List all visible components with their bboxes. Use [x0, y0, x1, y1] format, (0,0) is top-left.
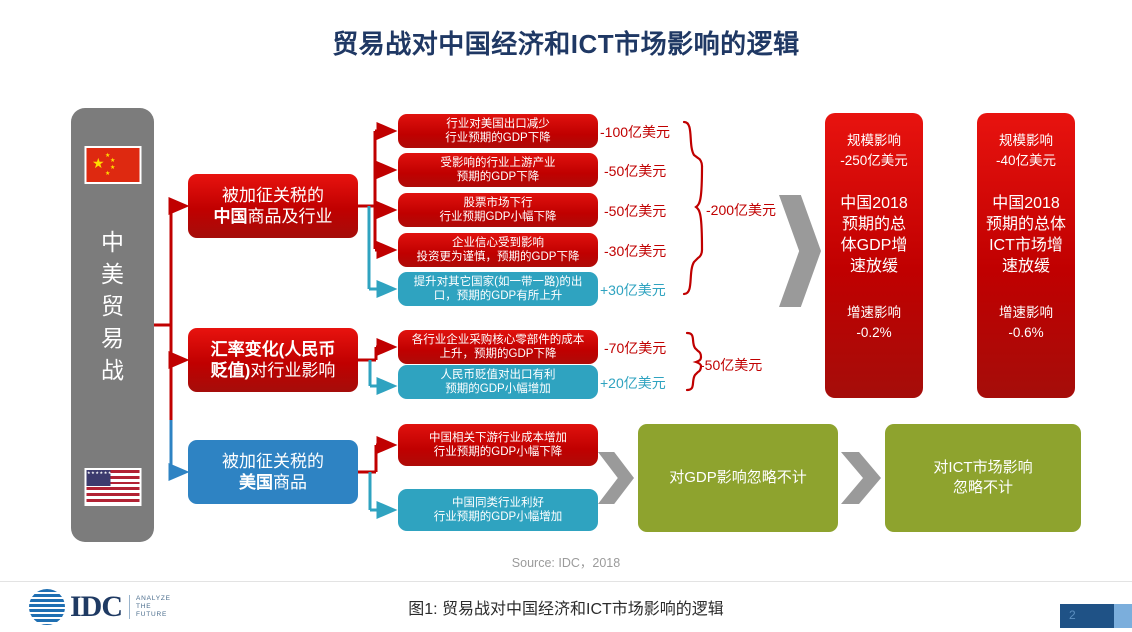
d1-line2: 行业预期的GDP下降 [445, 132, 550, 144]
china-flag-big-star: ★ [92, 156, 105, 170]
o1-body: 中国2018 预期的总 体GDP增 速放缓 [825, 171, 923, 277]
pillar-char-4: 易 [71, 322, 154, 354]
value-label-5: +30亿美元 [600, 280, 666, 300]
idc-tagline: ANALYZE THE FUTURE [129, 595, 171, 619]
green-box-ict-negligible[interactable]: 对ICT市场影响 忽略不计 [885, 424, 1081, 532]
detail-box-confidence[interactable]: 企业信心受到影响投资更为谨慎，预期的GDP下降 [398, 233, 598, 267]
d1-line1: 行业对美国出口减少 [446, 118, 550, 130]
o2-growth-value: -0.6% [977, 323, 1075, 343]
usa-flag-canton: ★★★★★★★★★★★★★★★★★★ [86, 470, 110, 486]
d5-line2: 口，预期的GDP有所上升 [434, 290, 562, 302]
d8-line1: 中国相关下游行业成本增加 [429, 432, 567, 444]
category-box-exchange-rate[interactable]: 汇率变化(人民币 贬值)对行业影响 [188, 328, 358, 392]
d3-line1: 股票市场下行 [463, 197, 532, 209]
pillar-char-5: 战 [71, 354, 154, 386]
idc-logo: IDC ANALYZE THE FUTURE [28, 588, 171, 626]
cat1-bold: 中国 [214, 207, 248, 226]
o1-body-line3: 体GDP增 [825, 235, 923, 256]
idc-globe-icon [28, 588, 66, 626]
d6-line2: 上升，预期的GDP下降 [440, 348, 557, 360]
pillar-label: 中 美 贸 易 战 [71, 226, 154, 386]
arrow-to-ict-negligible-icon [841, 452, 881, 504]
connector-lines [0, 0, 1132, 632]
o2-scale-value: -40亿美元 [977, 151, 1075, 171]
cat2-bold: 汇率变化(人民币 [211, 340, 336, 359]
d4-line2: 投资更为谨慎，预期的GDP下降 [417, 251, 580, 263]
idc-wordmark: IDC [70, 590, 122, 624]
usa-flag-icon: ★★★★★★★★★★★★★★★★★★ [84, 468, 141, 506]
d7-line2: 预期的GDP小幅增加 [445, 383, 550, 395]
value-label-2: -50亿美元 [604, 161, 666, 181]
page-number-bar: 2 [1060, 604, 1132, 628]
d7-line1: 人民币贬值对出口有利 [441, 369, 556, 381]
o2-body-line4: 速放缓 [977, 256, 1075, 277]
o2-growth-label: 增速影响 [977, 303, 1075, 323]
detail-box-downstream-cost[interactable]: 中国相关下游行业成本增加行业预期的GDP小幅下降 [398, 424, 598, 466]
green-box-gdp-negligible[interactable]: 对GDP影响忽略不计 [638, 424, 838, 532]
o2-body-line2: 预期的总体 [977, 214, 1075, 235]
d9-line1: 中国同类行业利好 [452, 497, 544, 509]
d2-line2: 预期的GDP下降 [457, 171, 539, 183]
detail-box-component-cost[interactable]: 各行业企业采购核心零部件的成本上升，预期的GDP下降 [398, 330, 598, 364]
o1-growth-value: -0.2% [825, 323, 923, 343]
idc-tagline-3: FUTURE [136, 611, 171, 619]
value-label-6: -70亿美元 [604, 338, 666, 358]
detail-box-upstream[interactable]: 受影响的行业上游产业预期的GDP下降 [398, 153, 598, 187]
o2-body: 中国2018 预期的总体 ICT市场增 速放缓 [977, 171, 1075, 277]
value-label-7: +20亿美元 [600, 373, 666, 393]
china-flag-small-star-2: ★ [110, 158, 115, 164]
cat3-line2: 商品 [273, 473, 307, 492]
detail-box-belt-road-export[interactable]: 提升对其它国家(如一带一路)的出口，预期的GDP有所上升 [398, 272, 598, 306]
page-bar-accent [1114, 604, 1132, 628]
o1-scale-label: 规模影响 [825, 131, 923, 151]
detail-box-stock-market[interactable]: 股票市场下行行业预期GDP小幅下降 [398, 193, 598, 227]
idc-tagline-2: THE [136, 603, 171, 611]
slide-canvas: 贸易战对中国经济和ICT市场影响的逻辑 ★ ★ ★ ★ ★ 中 美 贸 易 战 … [0, 0, 1132, 632]
china-flag-small-star-4: ★ [105, 171, 110, 177]
arrow-to-outcome-icon [779, 195, 821, 307]
detail-box-export-decline[interactable]: 行业对美国出口减少行业预期的GDP下降 [398, 114, 598, 148]
value-label-1: -100亿美元 [600, 122, 670, 142]
value-label-4: -30亿美元 [604, 241, 666, 261]
d6-line1: 各行业企业采购核心零部件的成本 [412, 334, 585, 346]
o2-body-line3: ICT市场增 [977, 235, 1075, 256]
g2-line1: 对ICT市场影响 [933, 459, 1032, 476]
value-label-3: -50亿美元 [604, 201, 666, 221]
o1-body-line2: 预期的总 [825, 214, 923, 235]
cat3-line1: 被加征关税的 [222, 452, 324, 471]
outcome-box-gdp[interactable]: 规模影响 -250亿美元 中国2018 预期的总 体GDP增 速放缓 增速影响 … [825, 113, 923, 398]
cat1-line1: 被加征关税的 [222, 186, 324, 205]
pillar-char-1: 中 [71, 226, 154, 258]
page-title: 贸易战对中国经济和ICT市场影响的逻辑 [0, 24, 1132, 61]
detail-box-rmb-export-benefit[interactable]: 人民币贬值对出口有利预期的GDP小幅增加 [398, 365, 598, 399]
o1-body-line4: 速放缓 [825, 256, 923, 277]
d3-line2: 行业预期GDP小幅下降 [440, 211, 557, 223]
cat2-bold2: 贬值) [211, 361, 251, 380]
o2-body-line1: 中国2018 [977, 193, 1075, 214]
d4-line1: 企业信心受到影响 [452, 237, 544, 249]
g1-line1: 对GDP影响忽略不计 [669, 469, 807, 486]
source-note: Source: IDC，2018 [0, 552, 1132, 571]
pillar-char-2: 美 [71, 258, 154, 290]
o2-scale-label: 规模影响 [977, 131, 1075, 151]
trade-war-pillar: ★ ★ ★ ★ ★ 中 美 贸 易 战 ★★★★★★★★★★★★★★★★★★ [71, 108, 154, 542]
o1-body-line1: 中国2018 [825, 193, 923, 214]
china-flag-small-star-3: ★ [110, 165, 115, 171]
o1-scale-value: -250亿美元 [825, 151, 923, 171]
category-box-us-goods[interactable]: 被加征关税的 美国商品 [188, 440, 358, 504]
d9-line2: 行业预期的GDP小幅增加 [434, 511, 562, 523]
arrow-to-gdp-negligible-icon [598, 452, 634, 504]
d8-line2: 行业预期的GDP小幅下降 [434, 446, 562, 458]
o1-growth-label: 增速影响 [825, 303, 923, 323]
cat1-line2: 商品及行业 [248, 207, 333, 226]
outcome-box-ict[interactable]: 规模影响 -40亿美元 中国2018 预期的总体 ICT市场增 速放缓 增速影响… [977, 113, 1075, 398]
d5-line1: 提升对其它国家(如一带一路)的出 [414, 276, 583, 288]
cat3-bold: 美国 [239, 473, 273, 492]
g2-line2: 忽略不计 [953, 479, 1013, 496]
cat2-line2: 对行业影响 [250, 361, 335, 380]
total-label-fx: -50亿美元 [700, 355, 762, 375]
total-label-gdp: -200亿美元 [706, 200, 776, 220]
china-flag-icon: ★ ★ ★ ★ ★ [84, 146, 141, 184]
detail-box-domestic-benefit[interactable]: 中国同类行业利好行业预期的GDP小幅增加 [398, 489, 598, 531]
page-number: 2 [1069, 608, 1076, 622]
pillar-char-3: 贸 [71, 290, 154, 322]
idc-tagline-1: ANALYZE [136, 595, 171, 603]
category-box-china-goods[interactable]: 被加征关税的 中国商品及行业 [188, 174, 358, 238]
d2-line1: 受影响的行业上游产业 [441, 157, 556, 169]
footer-divider [0, 581, 1132, 582]
